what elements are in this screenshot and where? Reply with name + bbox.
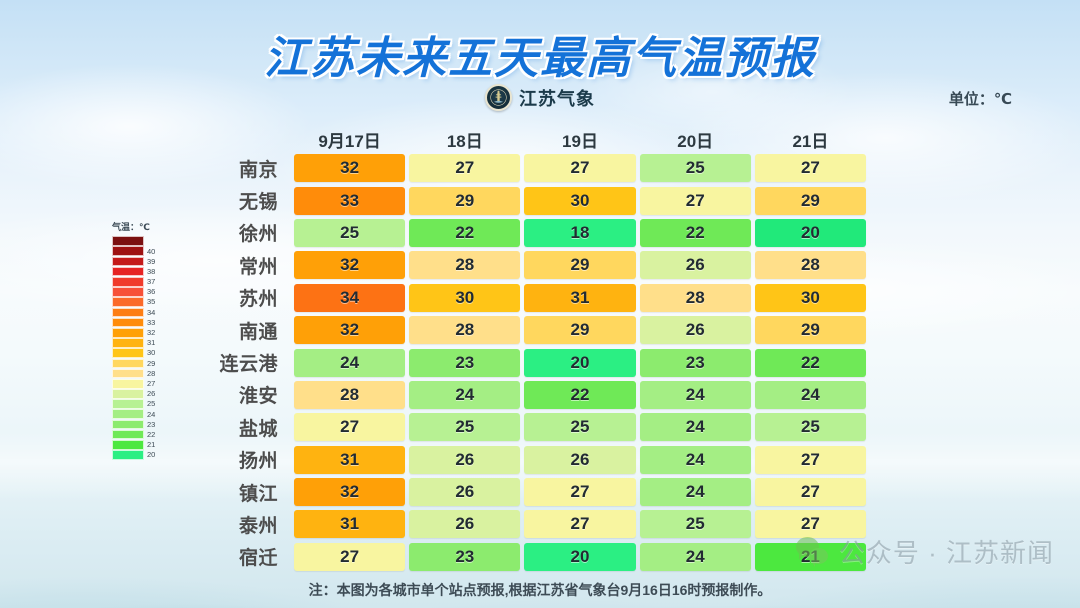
- legend-swatch: [112, 318, 144, 328]
- legend-swatch: [112, 338, 144, 348]
- temperature-cell: 27: [755, 154, 866, 182]
- page-header: 江苏未来五天最高气温预报 江苏气象 单位：℃: [0, 0, 1080, 125]
- legend-row: 33: [112, 318, 170, 328]
- legend-row: 38: [112, 267, 170, 277]
- temperature-cell: 29: [755, 316, 866, 344]
- legend-row: 20: [112, 450, 170, 460]
- temperature-cell: 26: [409, 446, 520, 474]
- legend-swatch: [112, 369, 144, 379]
- unit-label: 单位：℃: [949, 88, 1012, 109]
- temperature-cell: 32: [294, 154, 405, 182]
- temperature-cell: 24: [755, 381, 866, 409]
- table-row: 无锡3329302729: [196, 184, 868, 216]
- temperature-cell: 33: [294, 187, 405, 215]
- legend-tick-label: 23: [147, 421, 155, 429]
- temperature-cell: 34: [294, 284, 405, 312]
- temperature-cell: 27: [524, 154, 635, 182]
- legend-swatch: [112, 409, 144, 419]
- organization-name: 江苏气象: [519, 85, 595, 111]
- temperature-cell: 25: [640, 510, 751, 538]
- legend-tick-label: 28: [147, 370, 155, 378]
- city-label: 泰州: [196, 511, 292, 538]
- temperature-cell: 24: [640, 478, 751, 506]
- legend-row: 28: [112, 368, 170, 378]
- legend-row: 32: [112, 328, 170, 338]
- legend-swatch: [112, 348, 144, 358]
- legend-row: 29: [112, 358, 170, 368]
- wechat-icon: [796, 537, 830, 567]
- temperature-cell: 25: [640, 154, 751, 182]
- legend-row: 36: [112, 287, 170, 297]
- city-label: 无锡: [196, 187, 292, 214]
- city-label: 镇江: [196, 479, 292, 506]
- temperature-cell: 28: [294, 381, 405, 409]
- temperature-cell: 25: [409, 413, 520, 441]
- legend-title: 气温：℃: [112, 220, 170, 233]
- temperature-cell: 18: [524, 219, 635, 247]
- legend-row: 39: [112, 256, 170, 266]
- city-label: 徐州: [196, 219, 292, 246]
- legend-row: 21: [112, 440, 170, 450]
- temperature-cell: 27: [524, 478, 635, 506]
- temperature-cell: 24: [409, 381, 520, 409]
- legend-swatch: [112, 246, 144, 256]
- legend-tick-label: 32: [147, 329, 155, 337]
- temperature-cell: 28: [409, 251, 520, 279]
- table-row: 盐城2725252425: [196, 411, 868, 443]
- city-label: 淮安: [196, 381, 292, 408]
- legend-swatch: [112, 236, 144, 246]
- legend-swatch: [112, 308, 144, 318]
- temperature-cell: 29: [524, 316, 635, 344]
- temperature-cell: 31: [524, 284, 635, 312]
- legend-swatch: [112, 389, 144, 399]
- legend-tick-label: 33: [147, 319, 155, 327]
- legend-tick-label: 30: [147, 349, 155, 357]
- legend-swatch: [112, 287, 144, 297]
- temperature-cell: 25: [755, 413, 866, 441]
- table-row: 淮安2824222424: [196, 379, 868, 411]
- temperature-cell: 26: [409, 478, 520, 506]
- jiangsu-meteorological-emblem-icon: [485, 84, 512, 111]
- temperature-cell: 29: [524, 251, 635, 279]
- city-label: 盐城: [196, 414, 292, 441]
- legend-row: 27: [112, 379, 170, 389]
- temperature-cell: 22: [640, 219, 751, 247]
- temperature-cell: 22: [755, 349, 866, 377]
- temperature-cell: 26: [524, 446, 635, 474]
- legend-swatch: [112, 399, 144, 409]
- temperature-cell: 32: [294, 478, 405, 506]
- legend-tick-label: 26: [147, 390, 155, 398]
- temperature-cell: 28: [755, 251, 866, 279]
- city-label: 苏州: [196, 284, 292, 311]
- date-column-header: 20日: [640, 127, 751, 152]
- temperature-cell: 23: [640, 349, 751, 377]
- temperature-cell: 30: [524, 187, 635, 215]
- legend-tick-label: 34: [147, 309, 155, 317]
- table-row: 扬州3126262427: [196, 444, 868, 476]
- city-label: 扬州: [196, 446, 292, 473]
- temperature-cell: 27: [409, 154, 520, 182]
- forecast-table: 9月17日18日19日20日21日 南京3227272527无锡33293027…: [196, 126, 868, 573]
- legend-tick-label: 37: [147, 278, 155, 286]
- legend-swatch: [112, 430, 144, 440]
- temperature-cell: 24: [640, 381, 751, 409]
- table-row: 徐州2522182220: [196, 217, 868, 249]
- legend-scale: 4039383736353433323130292827262524232221…: [112, 236, 170, 460]
- legend-row: 25: [112, 399, 170, 409]
- table-row: 南通3228292629: [196, 314, 868, 346]
- temperature-cell: 24: [294, 349, 405, 377]
- temperature-cell: 31: [294, 510, 405, 538]
- temperature-cell: 29: [755, 187, 866, 215]
- table-row: 泰州3126272527: [196, 508, 868, 540]
- legend-tick-label: 25: [147, 400, 155, 408]
- temperature-cell: 22: [409, 219, 520, 247]
- table-row: 南京3227272527: [196, 152, 868, 184]
- temperature-cell: 23: [409, 349, 520, 377]
- temperature-cell: 27: [294, 413, 405, 441]
- table-row: 连云港2423202322: [196, 346, 868, 378]
- city-label: 连云港: [196, 349, 292, 376]
- legend-row: 34: [112, 307, 170, 317]
- temperature-cell: 30: [755, 284, 866, 312]
- legend-row: 26: [112, 389, 170, 399]
- table-row: 镇江3226272427: [196, 476, 868, 508]
- temperature-cell: 27: [524, 510, 635, 538]
- legend-swatch: [112, 257, 144, 267]
- city-label: 南通: [196, 317, 292, 344]
- temperature-cell: 32: [294, 316, 405, 344]
- legend-tick-label: 21: [147, 441, 155, 449]
- legend-swatch: [112, 267, 144, 277]
- temperature-cell: 25: [294, 219, 405, 247]
- watermark: 公众号 · 江苏新闻: [796, 533, 1054, 570]
- temperature-cell: 24: [640, 413, 751, 441]
- legend-swatch: [112, 277, 144, 287]
- legend-swatch: [112, 420, 144, 430]
- legend-swatch: [112, 359, 144, 369]
- legend-tick-label: 36: [147, 288, 155, 296]
- legend-row: 31: [112, 338, 170, 348]
- temperature-cell: 27: [755, 478, 866, 506]
- table-row: 苏州3430312830: [196, 282, 868, 314]
- legend-row: 22: [112, 430, 170, 440]
- legend-tick-label: 38: [147, 268, 155, 276]
- legend-tick-label: 20: [147, 451, 155, 459]
- temperature-cell: 28: [640, 284, 751, 312]
- temperature-cell: 26: [640, 316, 751, 344]
- table-row: 宿迁2723202421: [196, 541, 868, 573]
- city-label: 宿迁: [196, 543, 292, 570]
- temperature-color-legend: 气温：℃ 40393837363534333231302928272625242…: [112, 220, 170, 460]
- legend-swatch: [112, 379, 144, 389]
- table-body: 南京3227272527无锡3329302729徐州2522182220常州32…: [196, 152, 868, 573]
- legend-tick-label: 22: [147, 431, 155, 439]
- legend-swatch: [112, 440, 144, 450]
- legend-tick-label: 24: [147, 411, 155, 419]
- legend-tick-label: 40: [147, 248, 155, 256]
- page-title: 江苏未来五天最高气温预报: [0, 22, 1080, 86]
- legend-row: 40: [112, 246, 170, 256]
- temperature-cell: 28: [409, 316, 520, 344]
- legend-swatch: [112, 328, 144, 338]
- temperature-cell: 24: [640, 446, 751, 474]
- watermark-text: 公众号 · 江苏新闻: [839, 533, 1054, 570]
- table-header-row: 9月17日18日19日20日21日: [196, 126, 868, 152]
- legend-tick-label: 29: [147, 360, 155, 368]
- legend-tick-label: 27: [147, 380, 155, 388]
- date-column-header: 9月17日: [294, 127, 405, 152]
- temperature-cell: 27: [755, 446, 866, 474]
- temperature-cell: 31: [294, 446, 405, 474]
- temperature-cell: 26: [409, 510, 520, 538]
- temperature-cell: 23: [409, 543, 520, 571]
- date-column-header: 18日: [409, 127, 520, 152]
- date-column-header: 19日: [524, 127, 635, 152]
- legend-tick-label: 31: [147, 339, 155, 347]
- temperature-cell: 20: [755, 219, 866, 247]
- legend-swatch: [112, 450, 144, 460]
- temperature-cell: 20: [524, 349, 635, 377]
- temperature-cell: 30: [409, 284, 520, 312]
- temperature-cell: 32: [294, 251, 405, 279]
- legend-row: 30: [112, 348, 170, 358]
- temperature-cell: 25: [524, 413, 635, 441]
- legend-row: 24: [112, 409, 170, 419]
- legend-row: 37: [112, 277, 170, 287]
- legend-row: 35: [112, 297, 170, 307]
- organization-logo: 江苏气象: [0, 84, 1080, 111]
- city-label: 南京: [196, 155, 292, 182]
- date-column-header: 21日: [755, 127, 866, 152]
- legend-row: 23: [112, 419, 170, 429]
- temperature-cell: 20: [524, 543, 635, 571]
- temperature-cell: 27: [294, 543, 405, 571]
- city-label: 常州: [196, 252, 292, 279]
- table-row: 常州3228292628: [196, 249, 868, 281]
- legend-swatch: [112, 297, 144, 307]
- temperature-cell: 29: [409, 187, 520, 215]
- temperature-cell: 27: [640, 187, 751, 215]
- temperature-cell: 24: [640, 543, 751, 571]
- temperature-cell: 26: [640, 251, 751, 279]
- legend-tick-label: 39: [147, 258, 155, 266]
- temperature-cell: 22: [524, 381, 635, 409]
- legend-row: [112, 236, 170, 246]
- footnote: 注：本图为各城市单个站点预报,根据江苏省气象台9月16日16时预报制作。: [0, 580, 1080, 600]
- legend-tick-label: 35: [147, 298, 155, 306]
